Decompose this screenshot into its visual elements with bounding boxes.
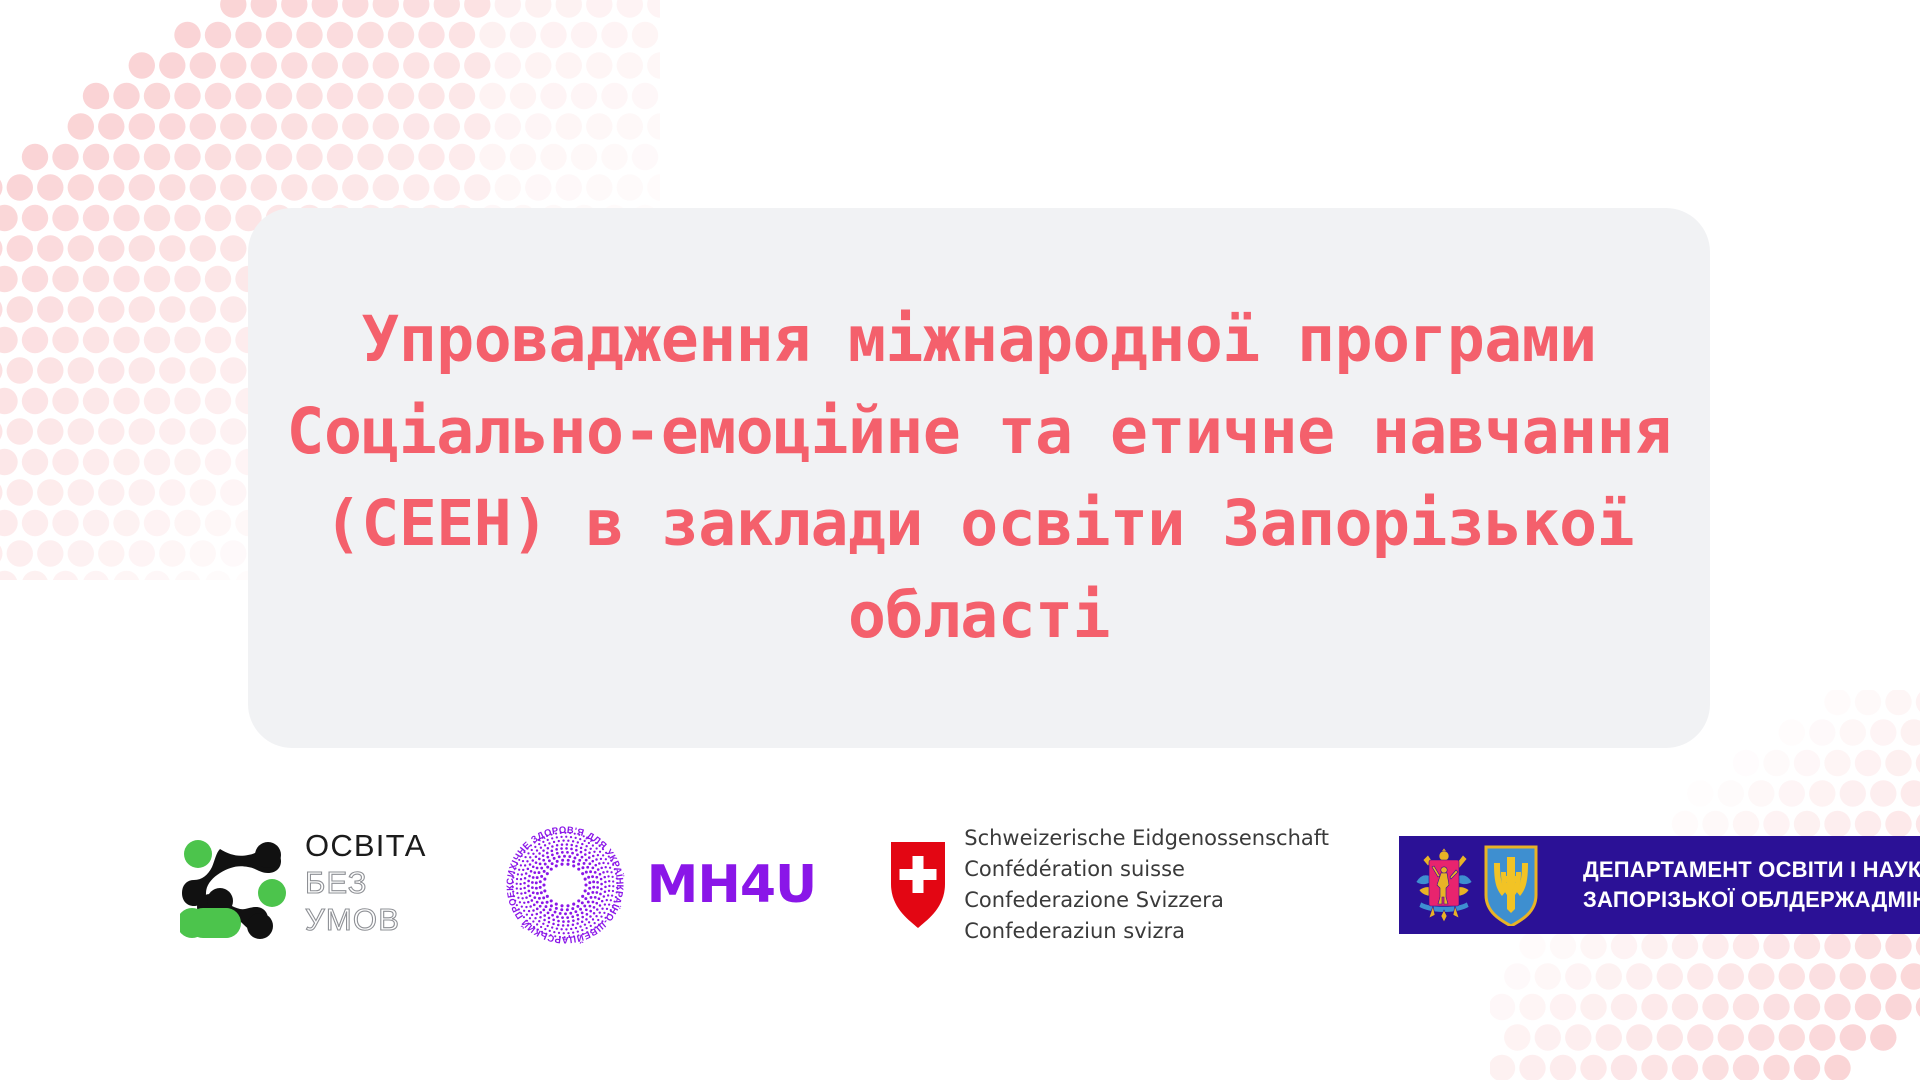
mh4u-ring-text-top: ПСИХІЧНЕ ЗДОРОВ'Я ДЛЯ УКРАЇНИ — [495, 815, 626, 885]
title-line-2: Соціально-емоційне та етичне навчання — [287, 386, 1672, 478]
logo-swiss-confederation: Schweizerische Eidgenossenschaft Confédé… — [888, 823, 1329, 947]
green-dot-1 — [184, 840, 212, 868]
department-line-1: ДЕПАРТАМЕНТ ОСВІТИ І НАУКИ — [1583, 855, 1920, 885]
osvita-network-icon — [180, 827, 296, 943]
title-line-1: Упровадження міжнародної програми — [361, 294, 1596, 386]
osvita-word-1: ОСВІТА — [305, 830, 427, 867]
mh4u-ring-icon: ПСИХІЧНЕ ЗДОРОВ'Я ДЛЯ УКРАЇНИ УКРАЇНО-ШВ… — [495, 815, 635, 955]
osvita-word-2: БЕЗ — [305, 867, 427, 904]
osvita-wordmark: ОСВІТА БЕЗ УМОВ — [305, 830, 427, 941]
mh4u-wordmark: MH4U — [647, 855, 817, 915]
logo-department-banner: ДЕПАРТАМЕНТ ОСВІТИ І НАУКИ ЗАПОРІЗЬКОЇ О… — [1399, 836, 1920, 934]
osvita-word-3: УМОВ — [305, 904, 427, 941]
department-title: ДЕПАРТАМЕНТ ОСВІТИ І НАУКИ ЗАПОРІЗЬКОЇ О… — [1583, 855, 1920, 915]
department-emblems — [1411, 844, 1539, 926]
zaporizhzhia-coat-of-arms-icon — [1411, 844, 1477, 926]
ukraine-trident-icon — [1483, 844, 1539, 926]
logo-osvita-bez-umov: ОСВІТА БЕЗ УМОВ — [180, 827, 427, 943]
logo-mh4u: ПСИХІЧНЕ ЗДОРОВ'Я ДЛЯ УКРАЇНИ УКРАЇНО-ШВ… — [495, 815, 817, 955]
slide-canvas: Упровадження міжнародної програми Соціал… — [0, 0, 1920, 1080]
swiss-line-it: Confederazione Svizzera — [964, 885, 1329, 916]
swiss-name-lines: Schweizerische Eidgenossenschaft Confédé… — [964, 823, 1329, 947]
swiss-line-de: Schweizerische Eidgenossenschaft — [964, 823, 1329, 854]
slide-title: Упровадження міжнародної програми Соціал… — [248, 208, 1710, 748]
swiss-line-fr: Confédération suisse — [964, 854, 1329, 885]
title-line-3: (СЕЕН) в заклади освіти Запорізької — [324, 478, 1634, 570]
swiss-line-rm: Confederaziun svizra — [964, 916, 1329, 947]
swiss-shield-icon — [888, 839, 948, 931]
logo-strip: ОСВІТА БЕЗ УМОВ ПСИХІЧНЕ ЗДОРОВ'Я ДЛЯ УК… — [150, 800, 1850, 970]
title-line-4: області — [848, 570, 1110, 662]
green-dot-2 — [258, 879, 286, 907]
department-line-2: ЗАПОРІЗЬКОЇ ОБЛДЕРЖАДМІНІСТРАЦІЇ — [1583, 885, 1920, 915]
department-banner: ДЕПАРТАМЕНТ ОСВІТИ І НАУКИ ЗАПОРІЗЬКОЇ О… — [1399, 836, 1920, 934]
